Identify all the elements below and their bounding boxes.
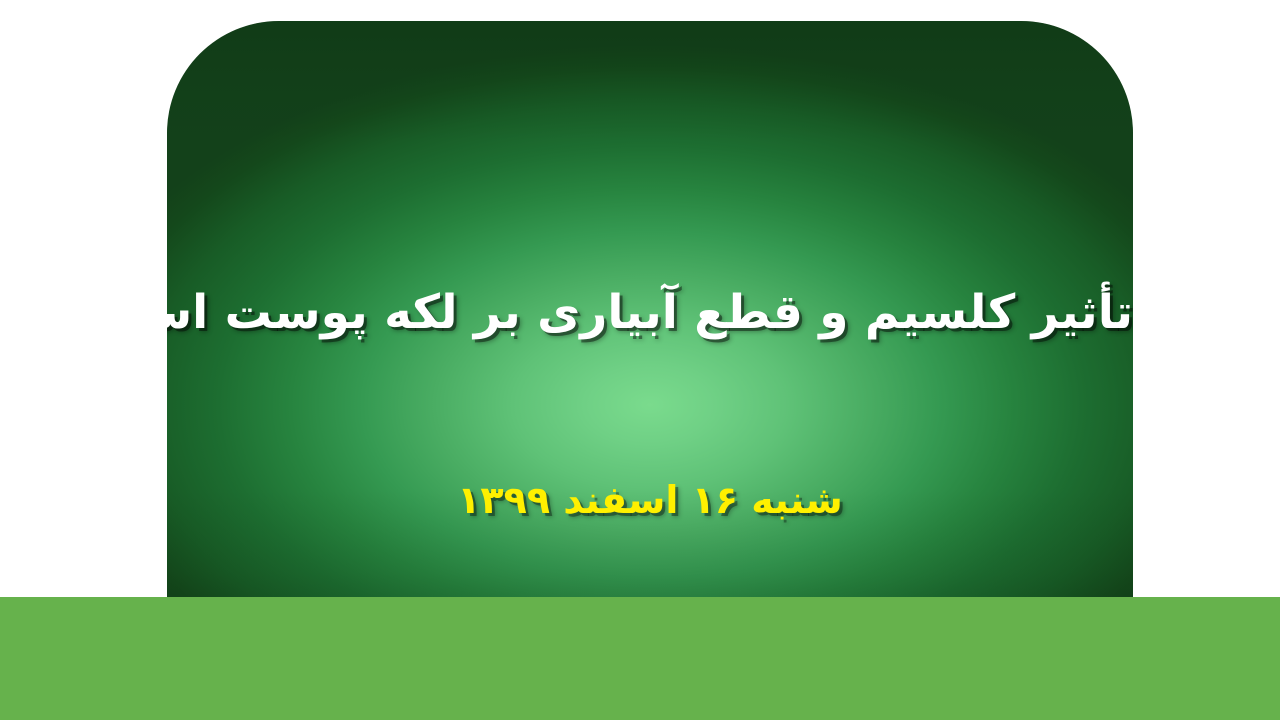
slide-text-block: تأثیر کلسیم و قطع آبیاری بر لکه پوست است… <box>167 21 1133 621</box>
title-slide-panel: تأثیر کلسیم و قطع آبیاری بر لکه پوست است… <box>167 21 1133 621</box>
slide-subtitle-date: شنبه ۱۶ اسفند ۱۳۹۹ <box>167 476 1133 525</box>
slide-title: تأثیر کلسیم و قطع آبیاری بر لکه پوست است… <box>167 283 1133 343</box>
bottom-accent-band <box>0 597 1280 720</box>
presentation-slide: تأثیر کلسیم و قطع آبیاری بر لکه پوست است… <box>0 0 1280 720</box>
